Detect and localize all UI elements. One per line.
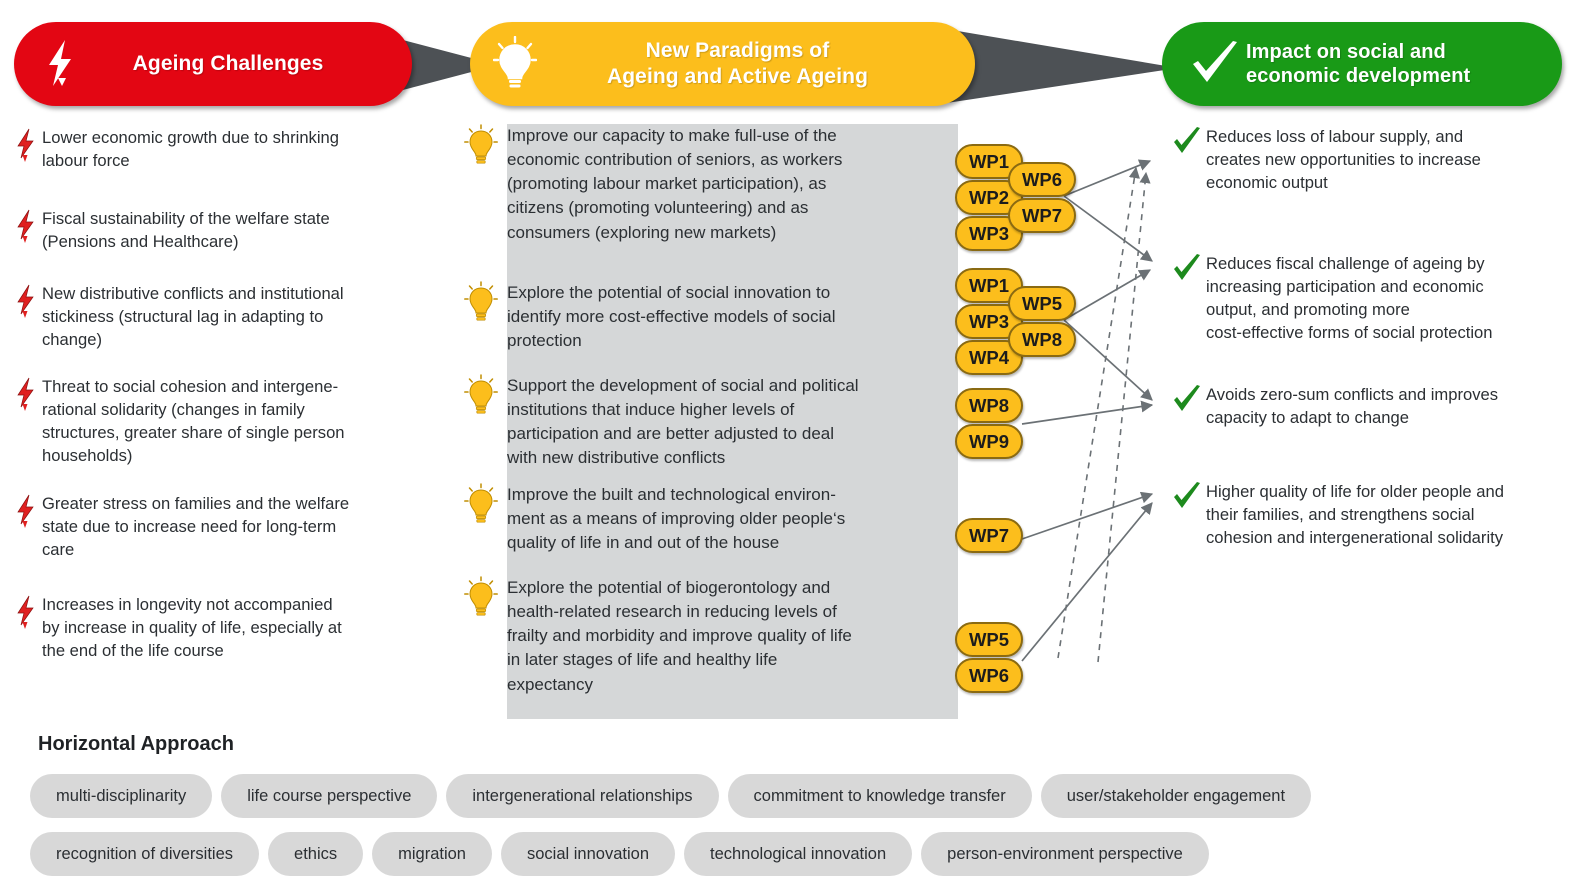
lightbulb-icon (455, 483, 507, 555)
wp-pill[interactable]: WP7 (955, 518, 1023, 553)
wp-pill[interactable]: WP8 (1008, 322, 1076, 357)
paradigm-item-3: Support the development of social and po… (455, 374, 859, 471)
lightbulb-icon (455, 576, 507, 697)
impact-item-4: Higher quality of life for older people … (1168, 481, 1504, 550)
check-mark-icon (1168, 481, 1206, 550)
horizontal-tag[interactable]: life course perspective (221, 774, 437, 818)
challenge-text-5: Greater stress on families and the welfa… (42, 492, 349, 561)
paradigm-item-5: Explore the potential of biogerontology … (455, 576, 852, 697)
lightbulb-icon (484, 33, 546, 95)
challenge-text-6: Increases in longevity not accompanied b… (42, 593, 342, 662)
header-impact[interactable]: Impact on social and economic developmen… (1162, 22, 1562, 106)
wp-pill[interactable]: WP7 (1008, 198, 1076, 233)
impact-item-1: Reduces loss of labour supply, and creat… (1168, 126, 1481, 195)
horizontal-tag[interactable]: multi-disciplinarity (30, 774, 212, 818)
horizontal-approach-row-1: multi-disciplinarity life course perspec… (30, 774, 1311, 818)
header-title-right: Impact on social and economic developmen… (1246, 40, 1562, 89)
horizontal-tag[interactable]: user/stakeholder engagement (1041, 774, 1311, 818)
challenge-item-1: Lower economic growth due to shrinking l… (8, 126, 339, 172)
horizontal-tag[interactable]: ethics (268, 832, 363, 876)
horizontal-tag[interactable]: intergenerational relationships (446, 774, 718, 818)
lightbulb-icon (455, 281, 507, 353)
challenge-item-3: New distributive conflicts and instituti… (8, 282, 344, 351)
lightbulb-icon (455, 374, 507, 471)
lightning-bolt-icon (28, 33, 90, 95)
horizontal-approach-row-2: recognition of diversities ethics migrat… (30, 832, 1209, 876)
lightning-bolt-icon (8, 375, 42, 467)
wp-pill[interactable]: WP5 (1008, 286, 1076, 321)
lightning-bolt-icon (8, 282, 42, 351)
lightning-bolt-icon (8, 593, 42, 662)
horizontal-tag[interactable]: recognition of diversities (30, 832, 259, 876)
wp-pill[interactable]: WP5 (955, 622, 1023, 657)
paradigm-text-1: Improve our capacity to make full-use of… (507, 124, 842, 245)
horizontal-tag[interactable]: technological innovation (684, 832, 912, 876)
paradigm-text-4: Improve the built and technological envi… (507, 483, 845, 555)
paradigm-text-5: Explore the potential of biogerontology … (507, 576, 852, 697)
paradigm-text-2: Explore the potential of social innovati… (507, 281, 836, 353)
challenge-text-3: New distributive conflicts and instituti… (42, 282, 344, 351)
impact-text-3: Avoids zero-sum conflicts and improves c… (1206, 384, 1498, 430)
horizontal-tag[interactable]: person-environment perspective (921, 832, 1209, 876)
check-mark-icon (1168, 126, 1206, 195)
paradigm-item-4: Improve the built and technological envi… (455, 483, 845, 555)
horizontal-tag[interactable]: social innovation (501, 832, 675, 876)
work-packages-layer: WP1 WP2 WP3 WP6 WP7 WP1 WP3 WP4 WP5 WP8 … (955, 124, 1065, 724)
challenge-text-4: Threat to social cohesion and intergene-… (42, 375, 345, 467)
lightning-bolt-icon (8, 492, 42, 561)
check-mark-icon (1168, 384, 1206, 430)
challenge-text-2: Fiscal sustainability of the welfare sta… (42, 207, 330, 253)
impact-item-2: Reduces fiscal challenge of ageing by in… (1168, 253, 1493, 345)
challenge-item-5: Greater stress on families and the welfa… (8, 492, 349, 561)
header-new-paradigms[interactable]: New Paradigms of Ageing and Active Agein… (470, 22, 975, 106)
paradigm-item-1: Improve our capacity to make full-use of… (455, 124, 842, 245)
horizontal-tag[interactable]: commitment to knowledge transfer (728, 774, 1032, 818)
impact-item-3: Avoids zero-sum conflicts and improves c… (1168, 384, 1498, 430)
connector-wedge-middle-to-right (940, 24, 1180, 108)
wp-pill[interactable]: WP9 (955, 424, 1023, 459)
impact-text-2: Reduces fiscal challenge of ageing by in… (1206, 253, 1493, 345)
paradigm-text-3: Support the development of social and po… (507, 374, 859, 471)
check-mark-icon (1184, 33, 1246, 95)
lightning-bolt-icon (8, 207, 42, 253)
challenge-text-1: Lower economic growth due to shrinking l… (42, 126, 339, 172)
challenge-item-2: Fiscal sustainability of the welfare sta… (8, 207, 330, 253)
impact-text-4: Higher quality of life for older people … (1206, 481, 1504, 550)
check-mark-icon (1168, 253, 1206, 345)
challenge-item-4: Threat to social cohesion and intergene-… (8, 375, 345, 467)
lightbulb-icon (455, 124, 507, 245)
wp-pill[interactable]: WP6 (955, 658, 1023, 693)
header-title-middle: New Paradigms of Ageing and Active Agein… (546, 38, 975, 89)
header-title-left: Ageing Challenges (90, 51, 412, 77)
wp-pill[interactable]: WP6 (1008, 162, 1076, 197)
horizontal-approach-title: Horizontal Approach (38, 733, 234, 756)
header-ageing-challenges[interactable]: Ageing Challenges (14, 22, 412, 106)
paradigm-item-2: Explore the potential of social innovati… (455, 281, 836, 353)
diagram-canvas: Ageing Challenges New Paradigms of Agein… (0, 0, 1575, 894)
lightning-bolt-icon (8, 126, 42, 172)
horizontal-tag[interactable]: migration (372, 832, 492, 876)
impact-text-1: Reduces loss of labour supply, and creat… (1206, 126, 1481, 195)
wp-pill[interactable]: WP8 (955, 388, 1023, 423)
challenge-item-6: Increases in longevity not accompanied b… (8, 593, 342, 662)
